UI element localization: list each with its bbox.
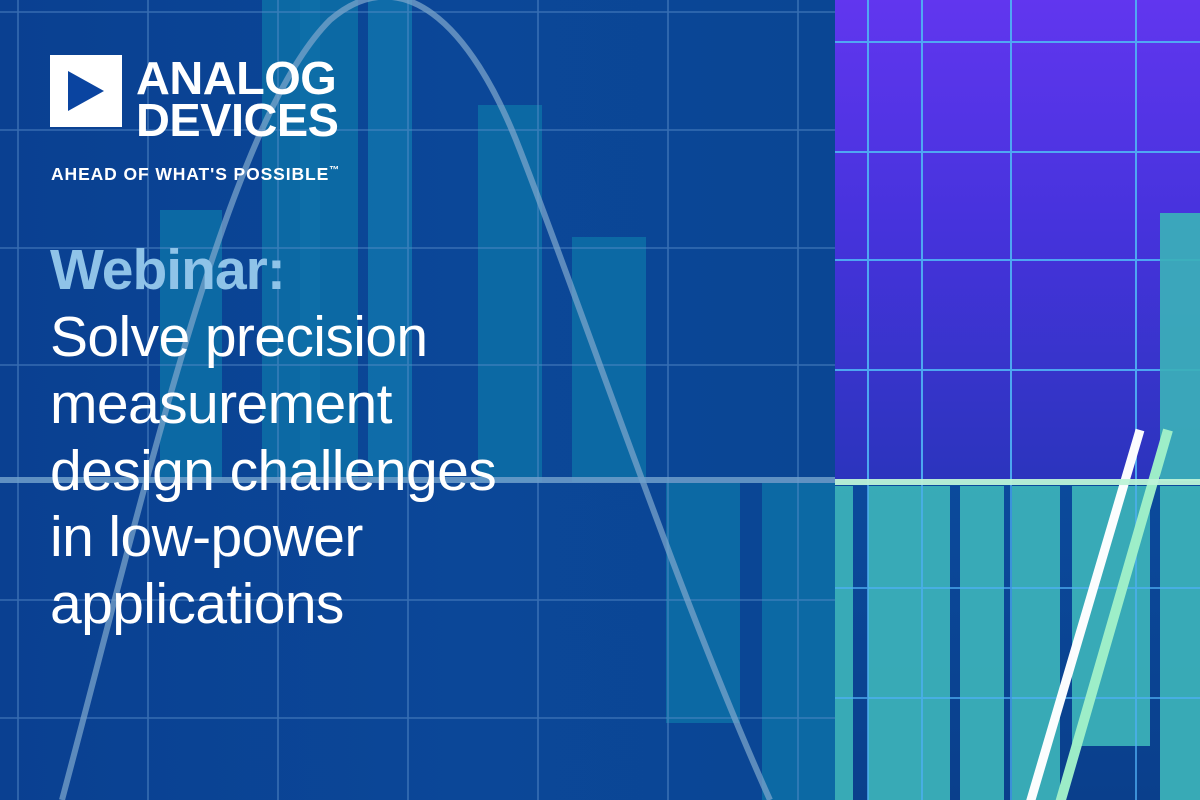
brand-tagline: AHEAD OF WHAT'S POSSIBLE™ (51, 164, 339, 185)
brand-lockup: ANALOG DEVICES AHEAD OF WHAT'S POSSIBLE™ (50, 55, 339, 185)
webinar-promo-banner: ANALOG DEVICES AHEAD OF WHAT'S POSSIBLE™… (0, 0, 1200, 800)
brand-wordmark: ANALOG DEVICES (136, 55, 334, 142)
title-line-3: design challenges (50, 438, 710, 505)
eyebrow-label: Webinar: (50, 240, 710, 300)
title-line-2: measurement (50, 371, 710, 438)
triangle-play-logo-icon (50, 55, 122, 127)
brand-name-line1: ANALOG (136, 57, 338, 99)
page-title: Solve precision measurement design chall… (50, 304, 710, 637)
brand-tagline-text: AHEAD OF WHAT'S POSSIBLE (51, 164, 329, 184)
title-line-5: applications (50, 571, 710, 638)
brand-name-line2: DEVICES (136, 99, 338, 141)
trademark-symbol: ™ (329, 165, 339, 176)
logo-row: ANALOG DEVICES (50, 55, 339, 142)
headline-block: Webinar: Solve precision measurement des… (50, 240, 710, 638)
title-line-1: Solve precision (50, 304, 710, 371)
title-line-4: in low-power (50, 504, 710, 571)
